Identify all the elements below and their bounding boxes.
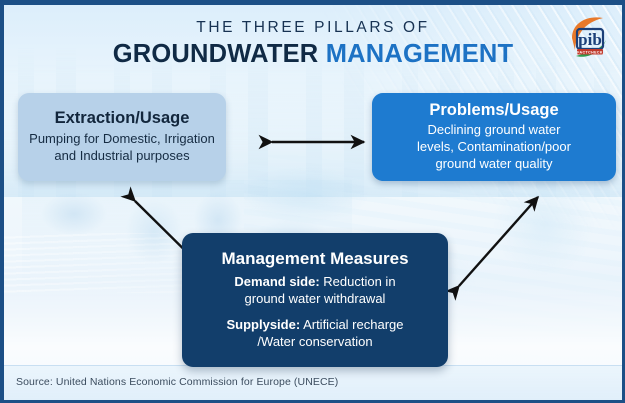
- page-eyebrow: THE THREE PILLARS OF: [4, 19, 622, 36]
- card-management-supply-line2: /Water conservation: [226, 334, 403, 351]
- card-management-demand: Demand side: Reduction in ground water w…: [234, 274, 395, 308]
- card-extraction-body-line1: Pumping for Domestic, Irrigation: [29, 131, 215, 148]
- header: THE THREE PILLARS OF GROUNDWATER MANAGEM…: [4, 19, 622, 68]
- card-management-supply-label: Supplyside:: [226, 317, 300, 332]
- infographic-root: THE THREE PILLARS OF GROUNDWATER MANAGEM…: [0, 0, 625, 403]
- card-problems-usage: Problems/Usage Declining ground water le…: [372, 93, 616, 181]
- card-extraction-body: Pumping for Domestic, Irrigation and Ind…: [29, 131, 215, 164]
- card-management-supply-line1: Supplyside: Artificial recharge: [226, 317, 403, 334]
- card-problems-body: Declining ground water levels, Contamina…: [417, 122, 571, 173]
- pib-logo-subtext: FACTCHECK: [577, 50, 603, 54]
- card-problems-body-line1: Declining ground water: [417, 122, 571, 139]
- card-problems-body-line3: ground water quality: [417, 156, 571, 173]
- pib-logo-text: pib: [578, 30, 602, 49]
- card-problems-body-line2: levels, Contamination/poor: [417, 139, 571, 156]
- source-caption: Source: United Nations Economic Commissi…: [16, 376, 338, 388]
- page-title: GROUNDWATER MANAGEMENT: [4, 40, 622, 68]
- card-management-measures: Management Measures Demand side: Reducti…: [182, 233, 448, 367]
- card-problems-title: Problems/Usage: [429, 101, 558, 121]
- pib-logo-icon: pib FACTCHECK: [565, 12, 613, 62]
- card-extraction-title: Extraction/Usage: [55, 109, 190, 129]
- pib-logo: pib FACTCHECK: [565, 12, 613, 62]
- card-management-demand-line1: Demand side: Reduction in: [234, 274, 395, 291]
- card-extraction-body-line2: and Industrial purposes: [29, 148, 215, 165]
- page-title-word-groundwater: GROUNDWATER: [113, 40, 319, 68]
- card-management-title: Management Measures: [221, 249, 408, 269]
- card-management-demand-label: Demand side:: [234, 274, 319, 289]
- card-extraction-usage: Extraction/Usage Pumping for Domestic, I…: [18, 93, 226, 181]
- page-title-word-management: MANAGEMENT: [326, 40, 514, 68]
- card-management-demand-line2: ground water withdrawal: [234, 291, 395, 308]
- card-management-supply: Supplyside: Artificial recharge /Water c…: [226, 317, 403, 351]
- card-management-demand-text: Reduction in: [320, 274, 396, 289]
- card-management-supply-text: Artificial recharge: [300, 317, 403, 332]
